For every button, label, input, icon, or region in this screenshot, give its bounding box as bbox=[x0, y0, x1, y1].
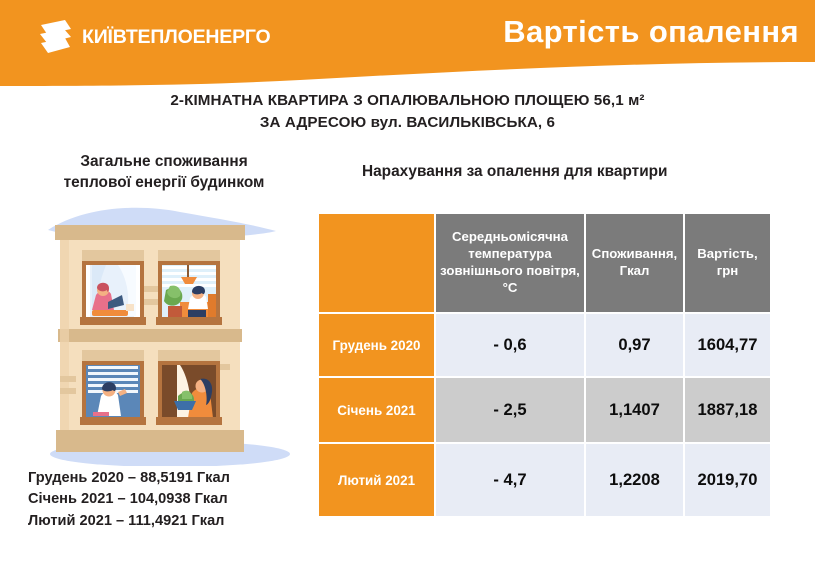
subtitle-line-1: 2-КІМНАТНА КВАРТИРА З ОПАЛЮВАЛЬНОЮ ПЛОЩЕ… bbox=[170, 92, 644, 109]
building-consumption-heading-line-1: Загальне споживання bbox=[80, 153, 247, 170]
cell-month: Грудень 2020 bbox=[319, 314, 434, 376]
building-consumption-heading-line-2: теплової енергії будинком bbox=[64, 174, 265, 191]
consumption-item: Лютий 2021 – 111,4921 Гкал bbox=[28, 511, 230, 532]
page-header: КИЇВТЕПЛОЕНЕРГО Вартість опалення bbox=[0, 0, 815, 86]
table-header-cost: Вартість, грн bbox=[685, 214, 770, 312]
cell-cost: 2019,70 bbox=[685, 444, 770, 516]
apartment-building-illustration bbox=[30, 198, 310, 466]
building-illustration-svg bbox=[30, 198, 310, 466]
cell-cost: 1887,18 bbox=[685, 378, 770, 442]
building-consumption-heading: Загальне споживання теплової енергії буд… bbox=[14, 152, 314, 194]
window-top-left bbox=[80, 261, 146, 325]
charges-table-heading: Нарахування за опалення для квартири bbox=[362, 163, 668, 181]
cell-temperature: - 0,6 bbox=[436, 314, 584, 376]
brand-logo-text: КИЇВТЕПЛОЕНЕРГО bbox=[82, 28, 271, 48]
table-row: Січень 2021 - 2,5 1,1407 1887,18 bbox=[319, 378, 770, 442]
cell-month: Лютий 2021 bbox=[319, 444, 434, 516]
subtitle-line-2: ЗА АДРЕСОЮ вул. ВАСИЛЬКІВСЬКА, 6 bbox=[0, 112, 815, 134]
window-bottom-left bbox=[80, 361, 146, 425]
table-row: Лютий 2021 - 4,7 1,2208 2019,70 bbox=[319, 444, 770, 516]
brand-logo[interactable]: КИЇВТЕПЛОЕНЕРГО bbox=[35, 17, 271, 59]
charges-table: Середньомісячна температура зовнішнього … bbox=[317, 212, 772, 518]
hexagon-waves-logo-icon bbox=[35, 17, 75, 59]
consumption-item: Січень 2021 – 104,0938 Гкал bbox=[28, 489, 230, 510]
cell-temperature: - 4,7 bbox=[436, 444, 584, 516]
page-title: Вартість опалення bbox=[503, 13, 799, 52]
cell-consumption: 1,1407 bbox=[586, 378, 683, 442]
cell-consumption: 0,97 bbox=[586, 314, 683, 376]
table-header-row: Середньомісячна температура зовнішнього … bbox=[319, 214, 770, 312]
cell-consumption: 1,2208 bbox=[586, 444, 683, 516]
cell-cost: 1604,77 bbox=[685, 314, 770, 376]
cell-temperature: - 2,5 bbox=[436, 378, 584, 442]
window-bottom-right bbox=[156, 361, 222, 425]
building-consumption-values: Грудень 2020 – 88,5191 Гкал Січень 2021 … bbox=[28, 468, 230, 532]
cell-month: Січень 2021 bbox=[319, 378, 434, 442]
table-row: Грудень 2020 - 0,6 0,97 1604,77 bbox=[319, 314, 770, 376]
table-header-temperature: Середньомісячна температура зовнішнього … bbox=[436, 214, 584, 312]
apartment-subtitle: 2-КІМНАТНА КВАРТИРА З ОПАЛЮВАЛЬНОЮ ПЛОЩЕ… bbox=[0, 90, 815, 133]
window-top-right bbox=[156, 261, 222, 325]
table-header-consumption: Споживання, Гкал bbox=[586, 214, 683, 312]
consumption-item: Грудень 2020 – 88,5191 Гкал bbox=[28, 468, 230, 489]
table-header-corner bbox=[319, 214, 434, 312]
